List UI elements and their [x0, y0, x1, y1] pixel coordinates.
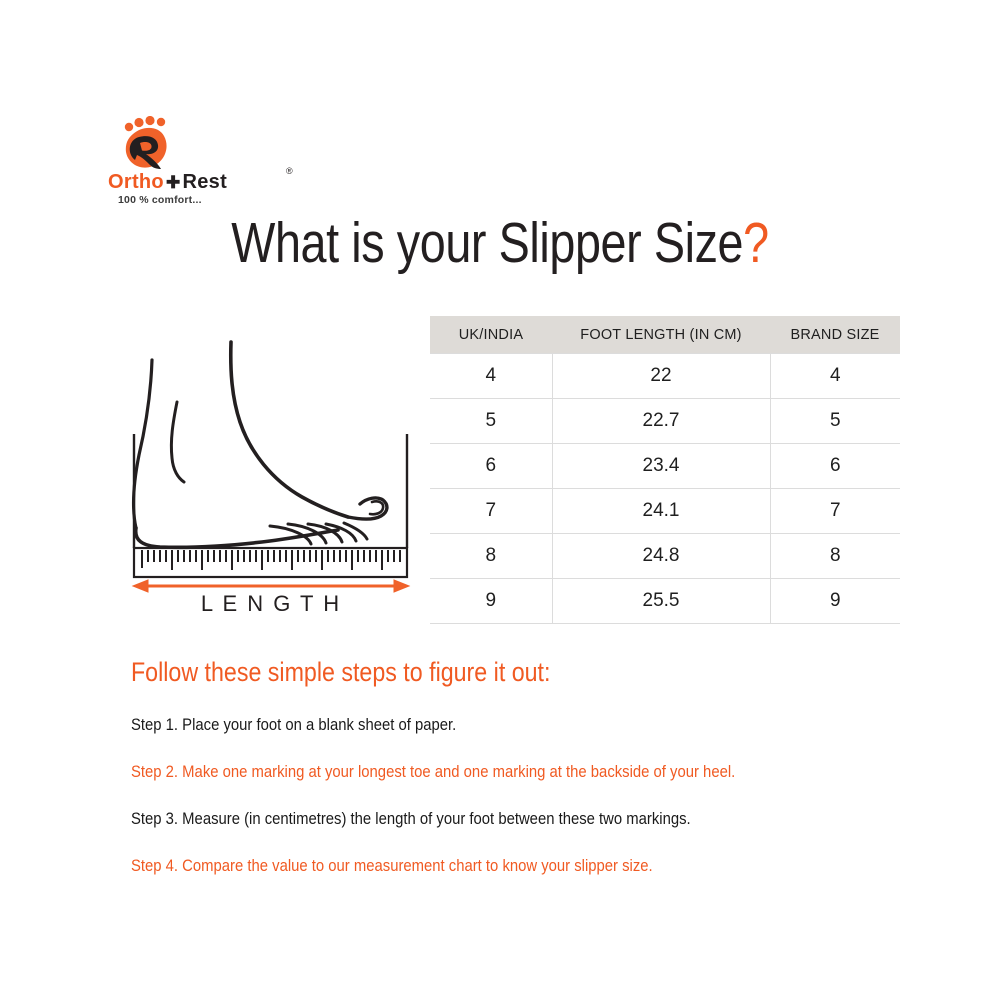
table-header-row: UK/INDIA FOOT LENGTH (IN CM) BRAND SIZE: [430, 316, 900, 354]
table-row: 6 23.4 6: [430, 444, 900, 489]
page-title: What is your Slipper Size?: [90, 208, 910, 278]
page-title-text: What is your Slipper Size: [231, 211, 743, 275]
column-header-foot-length: FOOT LENGTH (IN CM): [552, 316, 770, 354]
cell-uk-india: 5: [430, 399, 552, 444]
cell-uk-india: 7: [430, 489, 552, 534]
cell-brand-size: 8: [770, 534, 900, 579]
cell-brand-size: 9: [770, 579, 900, 624]
foot-length-measurement-diagram: L E N G T H: [120, 330, 425, 612]
cell-brand-size: 7: [770, 489, 900, 534]
brand-cross-icon: ✚: [164, 173, 183, 192]
table-row: 9 25.5 9: [430, 579, 900, 624]
cell-uk-india: 6: [430, 444, 552, 489]
cell-foot-length: 23.4: [552, 444, 770, 489]
measurement-bound-lines: [134, 434, 407, 548]
cell-brand-size: 4: [770, 354, 900, 399]
step-item-1: Step 1. Place your foot on a blank sheet…: [131, 714, 456, 736]
cell-foot-length: 24.8: [552, 534, 770, 579]
cell-foot-length: 24.1: [552, 489, 770, 534]
column-header-brand-size: BRAND SIZE: [770, 316, 900, 354]
brand-name-part2: Rest: [182, 171, 227, 193]
slipper-size-chart-table: UK/INDIA FOOT LENGTH (IN CM) BRAND SIZE …: [430, 316, 900, 624]
step-item-4: Step 4. Compare the value to our measure…: [131, 855, 653, 877]
table-row: 4 22 4: [430, 354, 900, 399]
page-title-question-mark: ?: [743, 211, 769, 275]
registered-trademark-mark: ®: [286, 166, 293, 176]
cell-brand-size: 5: [770, 399, 900, 444]
brand-wordmark: Ortho✚Rest: [108, 170, 308, 194]
cell-uk-india: 4: [430, 354, 552, 399]
footprint-r-logo-icon: [113, 116, 175, 172]
foot-outline-icon: [134, 342, 387, 547]
cell-uk-india: 9: [430, 579, 552, 624]
column-header-uk-india: UK/INDIA: [430, 316, 552, 354]
ruler-icon: [134, 548, 407, 577]
cell-foot-length: 22: [552, 354, 770, 399]
cell-foot-length: 25.5: [552, 579, 770, 624]
table-row: 8 24.8 8: [430, 534, 900, 579]
cell-uk-india: 8: [430, 534, 552, 579]
brand-name-part1: Ortho: [108, 171, 164, 193]
table-row: 7 24.1 7: [430, 489, 900, 534]
brand-logo: Ortho✚Rest ® 100 % comfort...: [108, 116, 308, 208]
steps-heading: Follow these simple steps to figure it o…: [131, 655, 550, 689]
cell-foot-length: 22.7: [552, 399, 770, 444]
step-item-3: Step 3. Measure (in centimetres) the len…: [131, 808, 691, 830]
table-row: 5 22.7 5: [430, 399, 900, 444]
length-label: L E N G T H: [201, 591, 341, 612]
brand-tagline: 100 % comfort...: [118, 194, 202, 206]
cell-brand-size: 6: [770, 444, 900, 489]
step-item-2: Step 2. Make one marking at your longest…: [131, 761, 735, 783]
